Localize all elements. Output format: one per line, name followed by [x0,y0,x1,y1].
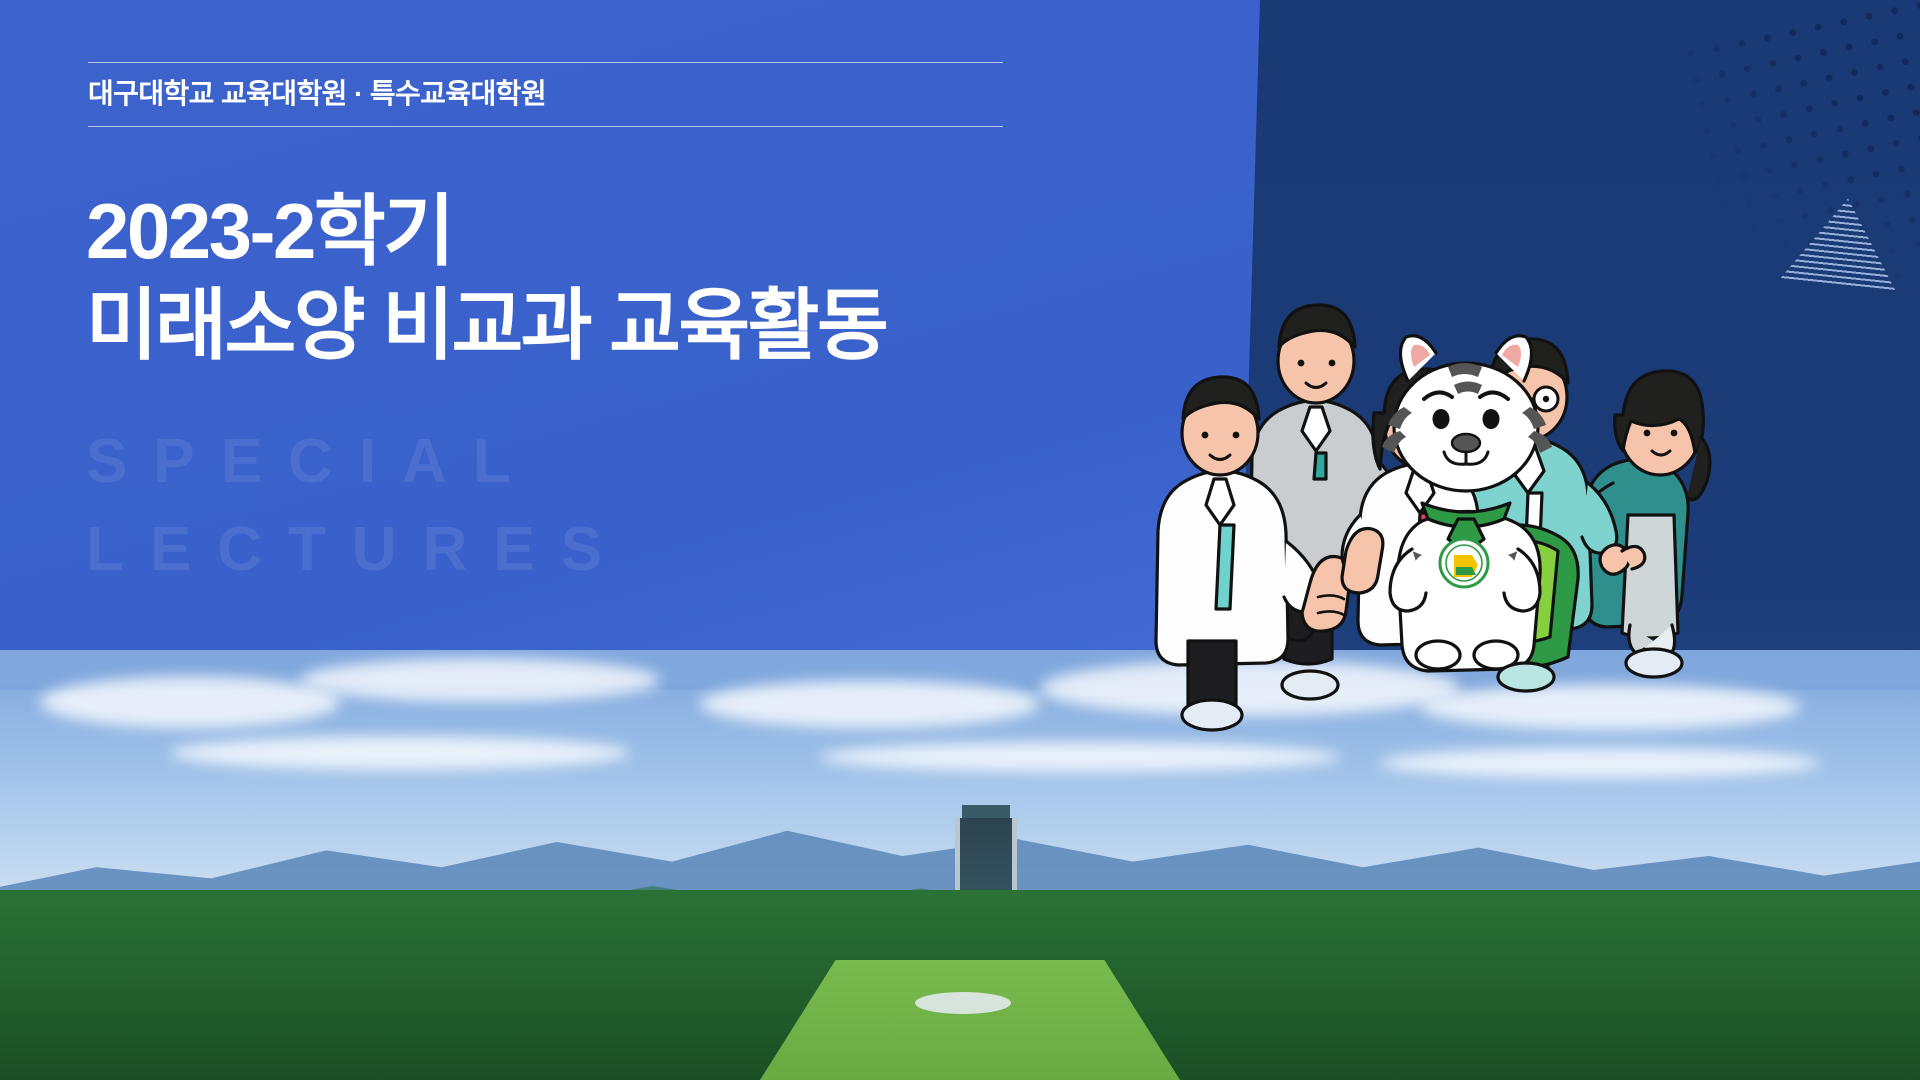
students-and-mascot-illustration [1160,215,1800,675]
cloud [1380,748,1820,778]
campus-photo [0,650,1920,1080]
banner-stage: 대구대학교 교육대학원 · 특수교육대학원 2023-2학기 미래소양 비교과 … [0,0,1920,1080]
kicker-text: 대구대학교 교육대학원 · 특수교육대학원 [88,80,1003,108]
cloud [40,676,340,728]
lawn-plaza-circle [915,992,1011,1014]
cloud [300,658,660,702]
cloud [820,742,1340,772]
cloud [1420,684,1800,730]
ghost-line-1: SPECIAL [86,418,628,506]
cloud [170,736,630,770]
headline-line-2: 미래소양 비교과 교육활동 [86,279,886,373]
cloud [700,680,1040,728]
kicker-rule-block: 대구대학교 교육대학원 · 특수교육대학원 [88,62,1003,127]
headline-line-1: 2023-2학기 [86,185,886,279]
ghost-line-2: LECTURES [86,506,628,594]
page-title: 2023-2학기 미래소양 비교과 교육활동 [86,185,886,372]
ghost-subtitle: SPECIAL LECTURES [86,418,628,594]
